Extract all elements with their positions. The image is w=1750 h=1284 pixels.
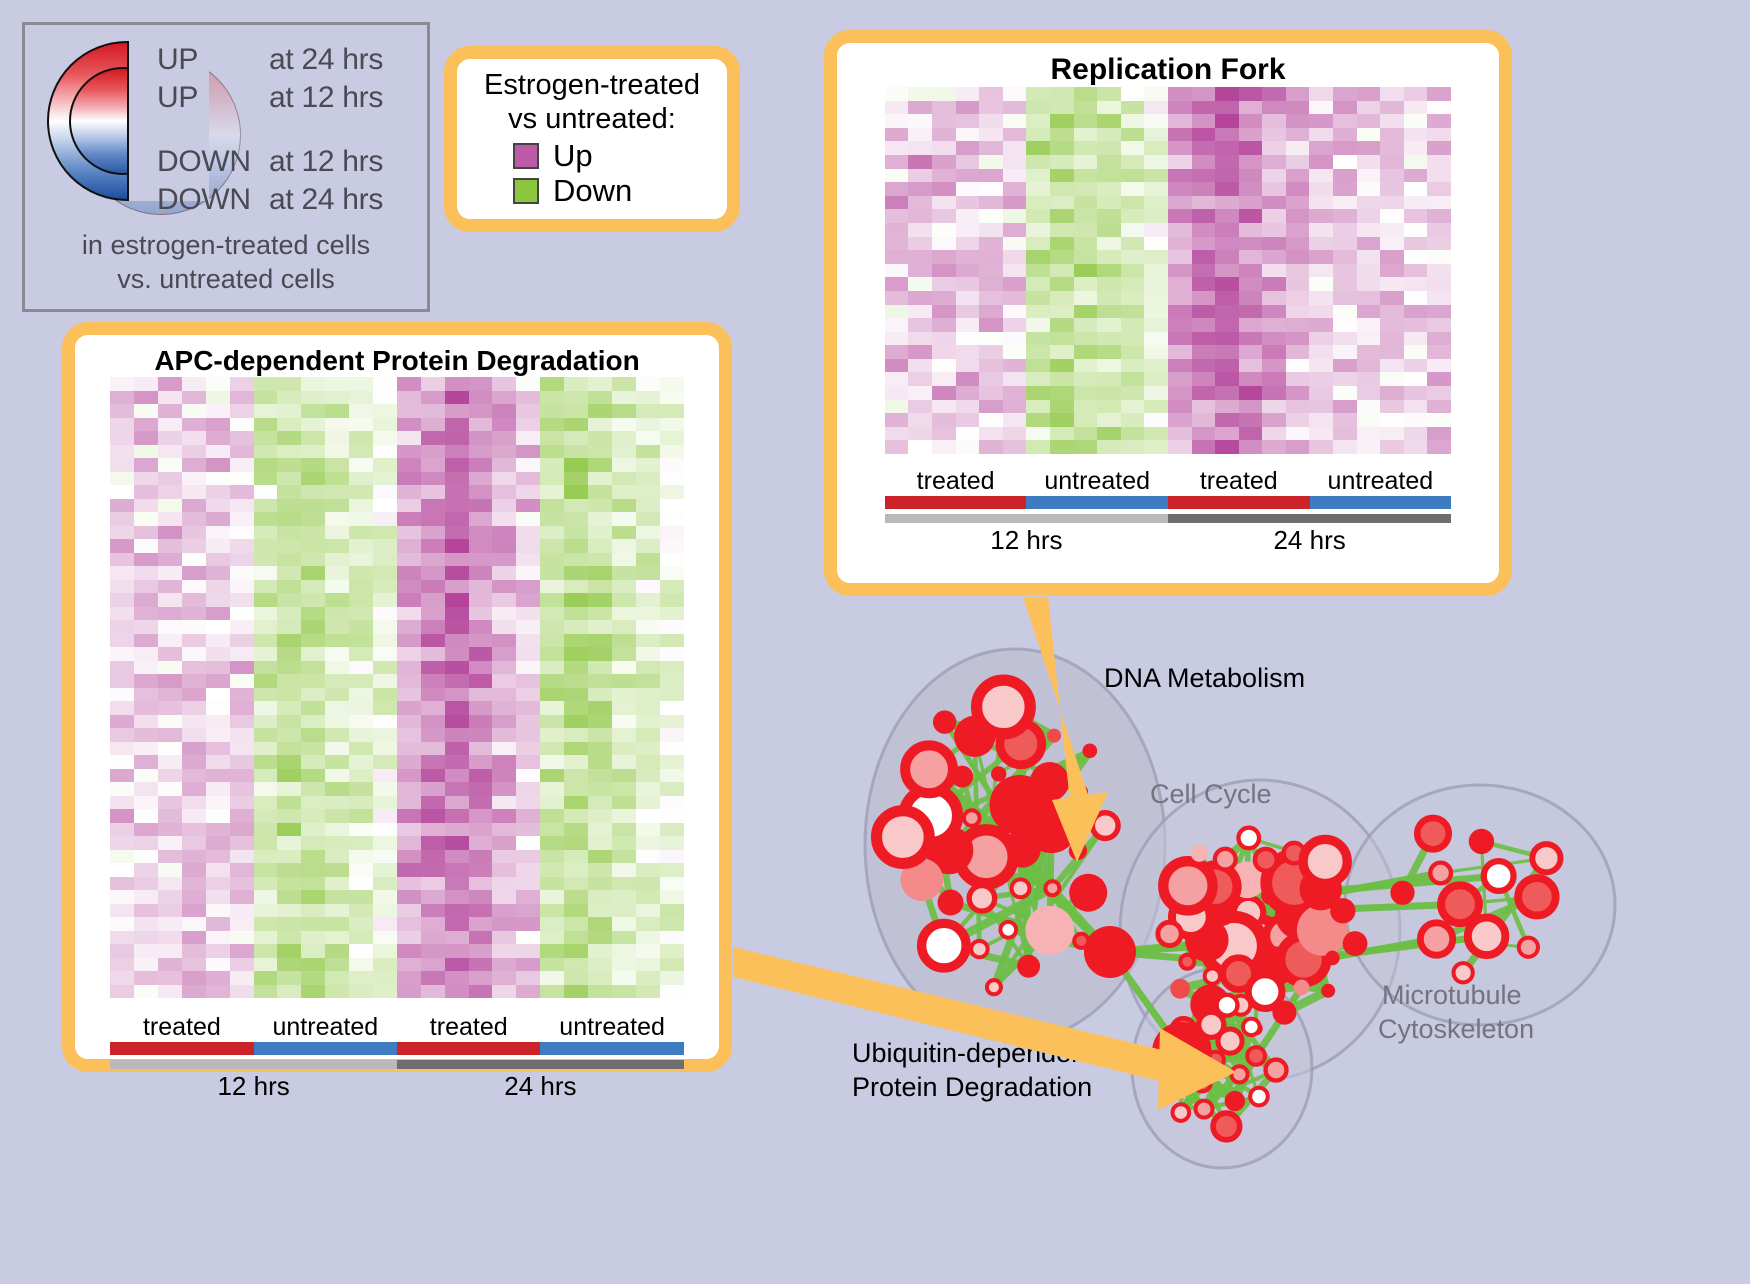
up-color-swatch <box>513 143 539 169</box>
heatmap-replication-fork <box>885 87 1451 454</box>
network-node[interactable] <box>922 923 967 968</box>
network-node[interactable] <box>1390 881 1414 905</box>
network-node[interactable] <box>1231 1066 1247 1082</box>
bar-untreated-24 <box>540 1042 683 1055</box>
legend-item-up: Up <box>513 140 727 171</box>
network-node[interactable] <box>876 811 929 864</box>
bar-treated-24 <box>1168 496 1310 509</box>
cluster-label-microtubule-line1: Microtubule <box>1382 979 1522 1011</box>
network-node[interactable] <box>1250 1088 1268 1106</box>
expression-ring-legend: UP at 24 hrs UP at 12 hrs DOWN at 12 hrs… <box>22 22 430 312</box>
group-label: treated <box>110 1015 253 1040</box>
timepoint-label: 12 hrs <box>885 525 1168 556</box>
network-node[interactable] <box>1030 762 1069 801</box>
cluster-label-ubiquitin-line2: Protein Degradation <box>852 1071 1092 1103</box>
ring-center-line <box>127 41 129 201</box>
ring-value: at 24 hrs <box>269 183 383 217</box>
heatmap-annotation-replication-fork: treated untreated treated untreated 12 h… <box>885 466 1451 556</box>
network-node[interactable] <box>1330 898 1355 923</box>
network-node[interactable] <box>1069 874 1107 912</box>
bar-treated-12 <box>885 496 1027 509</box>
replication-fork-panel: Replication Fork treated untreated treat… <box>824 30 1512 596</box>
panel-title-replication-fork: Replication Fork <box>837 53 1499 87</box>
group-labels-row: treated untreated treated untreated <box>110 1012 684 1042</box>
ring-key: UP <box>157 43 269 77</box>
network-node[interactable] <box>1069 842 1087 860</box>
ring-value: at 12 hrs <box>269 145 383 179</box>
network-node[interactable] <box>1191 845 1208 862</box>
network-node[interactable] <box>969 886 995 912</box>
network-node[interactable] <box>1519 938 1538 957</box>
group-label: untreated <box>540 1015 683 1040</box>
network-node[interactable] <box>905 745 953 793</box>
network-node[interactable] <box>1073 785 1088 800</box>
ring-footer-line1: in estrogen-treated cells <box>25 228 427 263</box>
ring-value: at 12 hrs <box>269 81 383 115</box>
down-label: Down <box>553 175 632 206</box>
legend-title-line1: Estrogen-treated <box>457 69 727 103</box>
legend-title-line2: vs untreated: <box>457 103 727 137</box>
timepoint-color-bar <box>885 514 1451 523</box>
timepoint-label: 24 hrs <box>1168 525 1451 556</box>
network-node[interactable] <box>1266 1060 1287 1081</box>
network-node[interactable] <box>1180 955 1194 969</box>
network-node[interactable] <box>1152 1022 1212 1082</box>
ring-legend-footer: in estrogen-treated cells vs. untreated … <box>25 228 427 297</box>
ring-legend-rows: UP at 24 hrs UP at 12 hrs DOWN at 12 hrs… <box>157 43 427 221</box>
network-node[interactable] <box>1158 922 1181 945</box>
network-node[interactable] <box>1518 878 1555 915</box>
network-node[interactable] <box>1084 926 1136 978</box>
timepoint-labels-row: 12 hrs 24 hrs <box>110 1071 684 1102</box>
network-node[interactable] <box>1092 813 1118 839</box>
network-node[interactable] <box>1012 879 1030 897</box>
group-label: treated <box>397 1015 540 1040</box>
network-node[interactable] <box>1321 984 1335 998</box>
network-node[interactable] <box>1484 861 1514 891</box>
network-node[interactable] <box>1532 844 1560 872</box>
bar-untreated-12 <box>254 1042 397 1055</box>
network-svg <box>790 600 1750 1279</box>
bar-12hrs <box>885 514 1168 523</box>
network-node[interactable] <box>1170 979 1190 999</box>
treatment-color-bar <box>885 496 1451 509</box>
ring-legend-row: UP at 24 hrs <box>157 43 427 81</box>
ring-legend-row: DOWN at 12 hrs <box>157 145 427 183</box>
group-label: treated <box>885 469 1027 494</box>
network-node[interactable] <box>1238 828 1259 849</box>
network-node[interactable] <box>1325 951 1340 966</box>
legend-item-down: Down <box>513 175 727 206</box>
network-node[interactable] <box>1343 931 1368 956</box>
figure-canvas: UP at 24 hrs UP at 12 hrs DOWN at 12 hrs… <box>0 0 1750 1279</box>
network-node[interactable] <box>1225 1091 1245 1111</box>
network-node[interactable] <box>1272 1000 1296 1024</box>
updown-legend-panel: Estrogen-treated vs untreated: Up Down <box>444 46 740 232</box>
network-node[interactable] <box>1205 968 1220 983</box>
ring-legend-row: DOWN at 24 hrs <box>157 183 427 221</box>
cluster-label-cell-cycle: Cell Cycle <box>1150 778 1272 810</box>
timepoint-color-bar <box>110 1060 684 1069</box>
network-node[interactable] <box>933 710 956 733</box>
network-node[interactable] <box>1047 729 1061 743</box>
bar-24hrs <box>1168 514 1451 523</box>
network-node[interactable] <box>1247 1047 1265 1065</box>
network-node[interactable] <box>1173 1104 1190 1121</box>
network-node[interactable] <box>1163 861 1212 910</box>
panel-title-apc: APC-dependent Protein Degradation <box>75 345 719 377</box>
network-node[interactable] <box>1243 1019 1260 1036</box>
ring-key: DOWN <box>157 145 269 179</box>
apc-degradation-panel: APC-dependent Protein Degradation treate… <box>62 322 732 1072</box>
network-node[interactable] <box>1213 1113 1240 1140</box>
network-node[interactable] <box>987 980 1001 994</box>
network-node[interactable] <box>1255 849 1277 871</box>
network-node[interactable] <box>1430 863 1451 884</box>
network-node[interactable] <box>964 810 980 826</box>
group-label: untreated <box>254 1015 397 1040</box>
timepoint-labels-row: 12 hrs 24 hrs <box>885 525 1451 556</box>
network-node[interactable] <box>971 941 987 957</box>
network-node[interactable] <box>1420 923 1452 955</box>
network-node[interactable] <box>1045 881 1059 895</box>
cluster-label-dna-metabolism: DNA Metabolism <box>1104 662 1305 694</box>
ring-key: DOWN <box>157 183 269 217</box>
network-node[interactable] <box>1017 955 1040 978</box>
network-node[interactable] <box>1441 885 1479 923</box>
bar-treated-24 <box>397 1042 540 1055</box>
group-label: treated <box>1168 469 1310 494</box>
down-color-swatch <box>513 178 539 204</box>
pathway-network-diagram: DNA Metabolism Cell Cycle Microtubule Cy… <box>790 600 1750 1279</box>
network-node[interactable] <box>1217 995 1238 1016</box>
network-node[interactable] <box>1000 922 1016 938</box>
network-node[interactable] <box>1469 829 1494 854</box>
network-node[interactable] <box>977 680 1031 734</box>
timepoint-label: 24 hrs <box>397 1071 684 1102</box>
heatmap-apc-degradation <box>110 377 684 998</box>
network-node[interactable] <box>1025 801 1077 853</box>
group-labels-row: treated untreated treated untreated <box>885 466 1451 496</box>
network-node[interactable] <box>991 766 1006 781</box>
group-label: untreated <box>1026 469 1168 494</box>
network-node[interactable] <box>938 890 964 916</box>
ring-key: UP <box>157 81 269 115</box>
network-node[interactable] <box>1417 818 1448 849</box>
group-label: untreated <box>1310 469 1452 494</box>
network-node[interactable] <box>1303 839 1347 883</box>
cluster-label-ubiquitin-line1: Ubiquitin-dependent <box>852 1037 1094 1069</box>
bar-treated-12 <box>110 1042 253 1055</box>
heatmap-annotation-apc: treated untreated treated untreated 12 h… <box>110 1012 684 1102</box>
network-node[interactable] <box>1196 1101 1213 1118</box>
network-node[interactable] <box>1468 918 1506 956</box>
treatment-color-bar <box>110 1042 684 1055</box>
network-node[interactable] <box>1294 980 1310 996</box>
ring-footer-line2: vs. untreated cells <box>25 262 427 297</box>
bar-untreated-24 <box>1310 496 1452 509</box>
network-node[interactable] <box>1025 906 1074 955</box>
bar-untreated-12 <box>1026 496 1168 509</box>
ring-legend-row: UP at 12 hrs <box>157 81 427 119</box>
timepoint-label: 12 hrs <box>110 1071 397 1102</box>
bar-12hrs <box>110 1060 397 1069</box>
up-label: Up <box>553 140 593 171</box>
network-node[interactable] <box>1215 849 1236 870</box>
ring-value: at 24 hrs <box>269 43 383 77</box>
cluster-label-microtubule-line2: Cytoskeleton <box>1378 1013 1534 1045</box>
network-node[interactable] <box>1083 744 1098 759</box>
bar-24hrs <box>397 1060 684 1069</box>
